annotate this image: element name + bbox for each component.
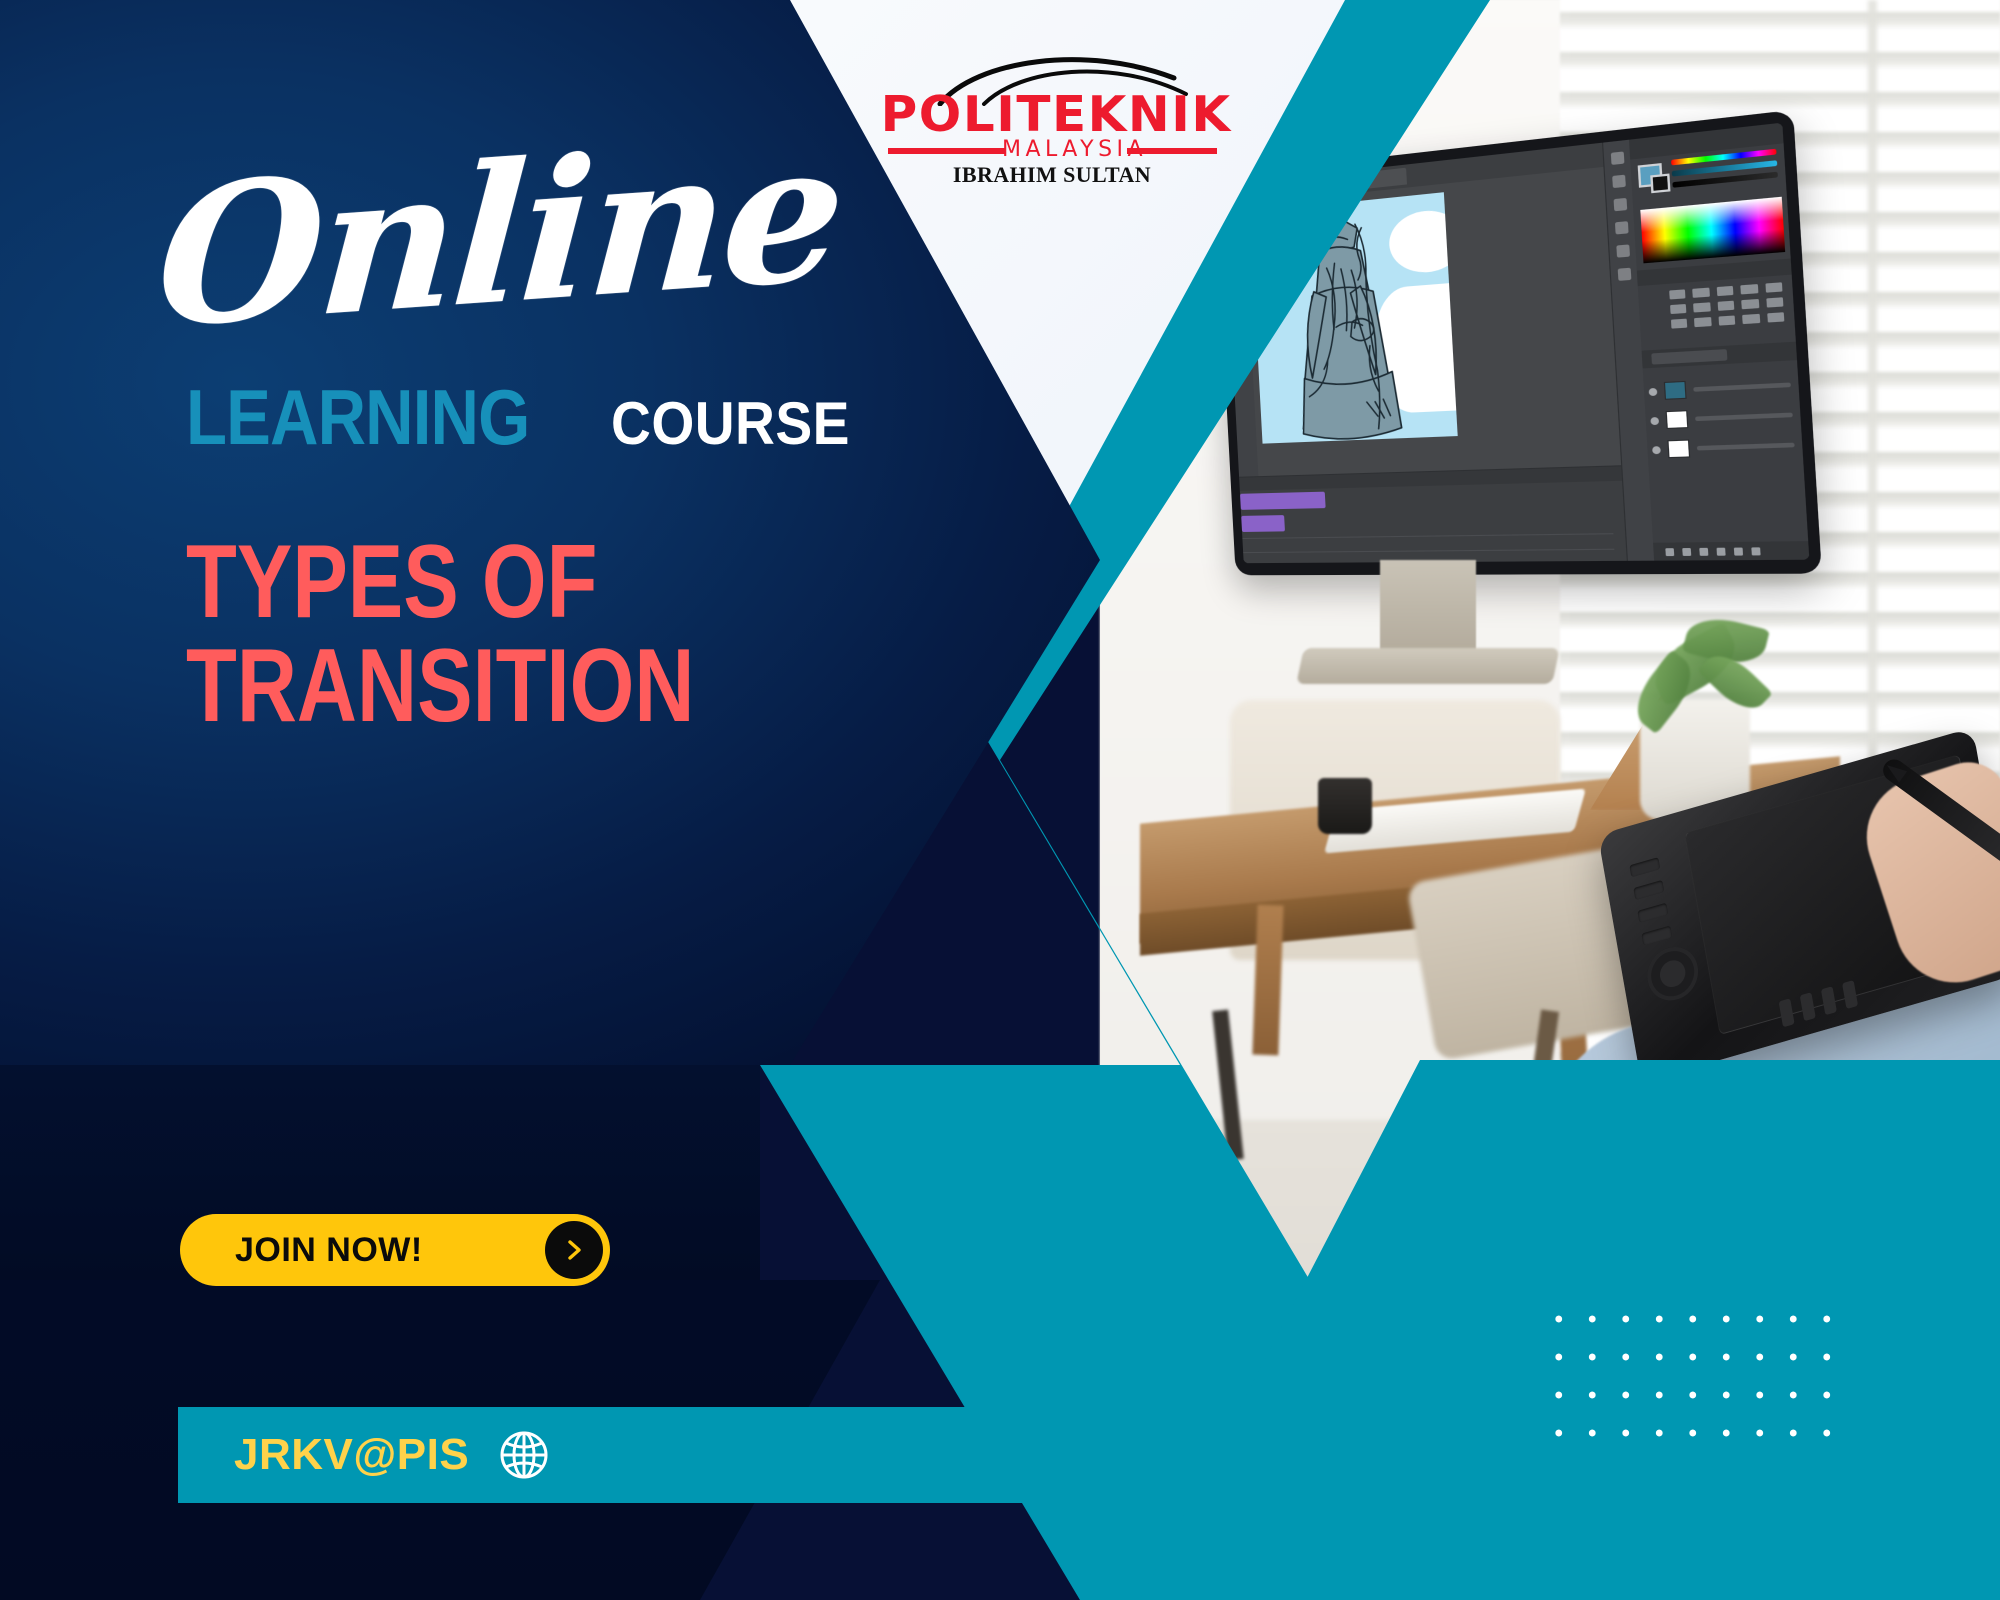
express-key [1779,998,1795,1027]
footer-icon [1699,547,1708,555]
layer-visibility-icon [1649,387,1658,395]
layer-name [1693,382,1791,391]
adjustment-icon [1669,289,1686,299]
layer-row [1650,402,1794,433]
footer-bar: JRKV@PIS [178,1407,1308,1503]
panel-icon [1616,244,1630,257]
adjustment-icon [1765,282,1783,292]
timeline-clip [1240,492,1326,510]
logo-subtext-campus: IBRAHIM SULTAN [884,162,1220,188]
course-word: COURSE [611,389,850,458]
mug [1318,778,1372,834]
adjustment-icon [1717,301,1734,311]
express-key [1821,986,1837,1015]
editor-timeline [1239,465,1627,563]
panel-icon [1612,175,1626,188]
layer-name [1695,413,1793,422]
layer-thumbnail [1666,410,1689,429]
tablet-touch-ring [1643,941,1702,1007]
join-now-button[interactable]: JOIN NOW! [180,1214,610,1286]
adjustment-icon [1671,319,1688,329]
swatches-panel-header [1637,258,1792,286]
poster-canvas: POLITEKNIK MALAYSIA IBRAHIM SULTAN Onlin… [0,0,2000,1600]
express-key [1629,857,1660,877]
join-now-label: JOIN NOW! [235,1231,423,1270]
layer-visibility-icon [1650,416,1659,424]
footer-icon [1751,547,1760,555]
footer-icon [1716,547,1725,555]
politeknik-logo: POLITEKNIK MALAYSIA IBRAHIM SULTAN [884,52,1220,182]
panel-icon [1617,268,1631,281]
adjustment-icon [1694,317,1711,327]
adjustment-icon [1741,284,1758,294]
adjustment-icon [1766,297,1784,307]
script-online-word: Online [152,115,847,354]
adjustments-grid [1669,282,1784,328]
express-key [1633,880,1664,900]
social-handle[interactable]: JRKV@PIS [234,1430,469,1480]
adjustment-icon [1716,286,1733,296]
desk-leg-left [1252,905,1283,1056]
adjustment-icon [1767,312,1785,322]
timeline-track-line [1242,533,1613,539]
timeline-clip [1241,515,1285,532]
editor-right-panels [1602,123,1809,561]
layers-panel-footer [1653,541,1809,561]
footer-icon [1682,547,1691,555]
monitor-neck [1380,560,1476,656]
monitor-foot [1296,648,1560,684]
tablet-express-keys [1629,857,1672,945]
layer-visibility-icon [1652,446,1661,454]
dot-grid-decoration [1542,1300,1852,1460]
footer-icon [1734,547,1743,555]
express-key [1641,925,1672,945]
timeline-ruler [1239,466,1622,490]
eyebrow-line: LEARNING COURSE [186,372,871,463]
logo-wordmark: POLITEKNIK [881,90,1224,139]
color-sliders [1671,149,1779,198]
adjustment-icon [1718,315,1735,325]
adjustment-icon [1741,299,1758,309]
adjustment-icon [1670,304,1687,314]
page-title: TYPES OF TRANSITION [186,530,694,738]
express-key [1800,992,1816,1021]
timeline-track-line [1243,549,1614,553]
express-key [1637,903,1668,923]
layer-row [1648,372,1792,404]
adjustment-icon [1693,288,1710,298]
panel-icon [1610,151,1624,165]
globe-icon [497,1428,551,1482]
layer-thumbnail [1667,439,1690,458]
color-spectrum [1640,197,1785,264]
layer-thumbnail [1664,381,1687,400]
learning-word: LEARNING [186,372,529,463]
panel-icon [1614,221,1628,234]
layer-row [1652,432,1796,462]
layer-name [1697,443,1795,451]
adjustment-icon [1694,302,1711,312]
logo-rule-left [888,148,1006,154]
background-swatch [1650,173,1670,193]
adjustment-icon [1742,314,1759,324]
logo-subtext-malaysia: MALAYSIA [1002,137,1132,162]
chevron-right-icon [545,1221,603,1279]
footer-icon [1665,548,1674,556]
panel-icon [1613,198,1627,211]
